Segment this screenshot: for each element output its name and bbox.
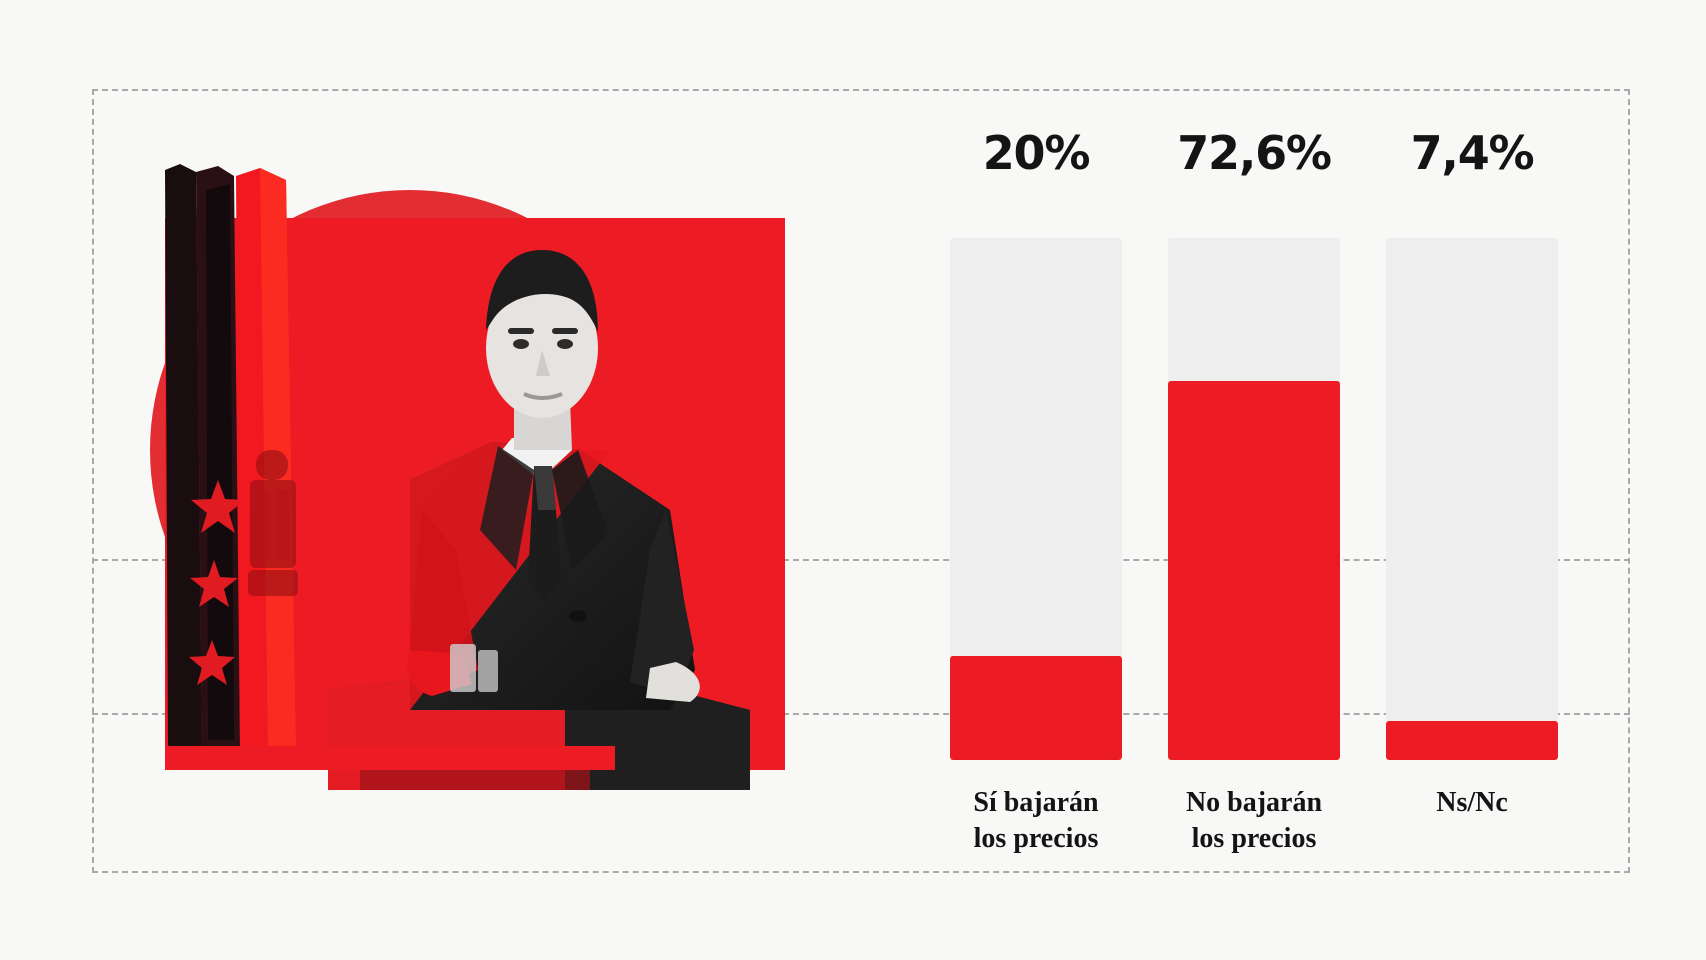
bar-track bbox=[1386, 238, 1558, 760]
bar-category-label: No bajarán los precios bbox=[1154, 785, 1354, 857]
bar-value-label: 20% bbox=[950, 130, 1122, 176]
bar-column-no-bajaran: 72,6% No bajarán los precios bbox=[1168, 120, 1340, 760]
infographic-root: 20% Sí bajarán los precios 72,6% No baja… bbox=[0, 0, 1706, 960]
bar-column-si-bajaran: 20% Sí bajarán los precios bbox=[950, 120, 1122, 760]
bar-track bbox=[1168, 238, 1340, 760]
bar-category-line-2: los precios bbox=[1154, 821, 1354, 857]
bar-track bbox=[950, 238, 1122, 760]
bar-column-nsnc: 7,4% Ns/Nc bbox=[1386, 120, 1558, 760]
bar-fill bbox=[1386, 721, 1558, 760]
bar-chart: 20% Sí bajarán los precios 72,6% No baja… bbox=[930, 120, 1630, 860]
bar-fill bbox=[950, 656, 1122, 760]
bar-category-line-2: los precios bbox=[936, 821, 1136, 857]
photo-illustration bbox=[110, 150, 840, 790]
bar-value-label: 72,6% bbox=[1168, 130, 1340, 176]
bar-category-line-1: No bajarán bbox=[1154, 785, 1354, 821]
bar-value-label: 7,4% bbox=[1386, 130, 1558, 176]
bar-category-line-1: Sí bajarán bbox=[936, 785, 1136, 821]
photo-collage bbox=[110, 150, 840, 790]
bar-category-label: Sí bajarán los precios bbox=[936, 785, 1136, 857]
bar-category-line-1: Ns/Nc bbox=[1372, 785, 1572, 821]
bar-fill bbox=[1168, 381, 1340, 760]
bar-group: 20% Sí bajarán los precios 72,6% No baja… bbox=[930, 120, 1630, 760]
bar-category-label: Ns/Nc bbox=[1372, 785, 1572, 821]
